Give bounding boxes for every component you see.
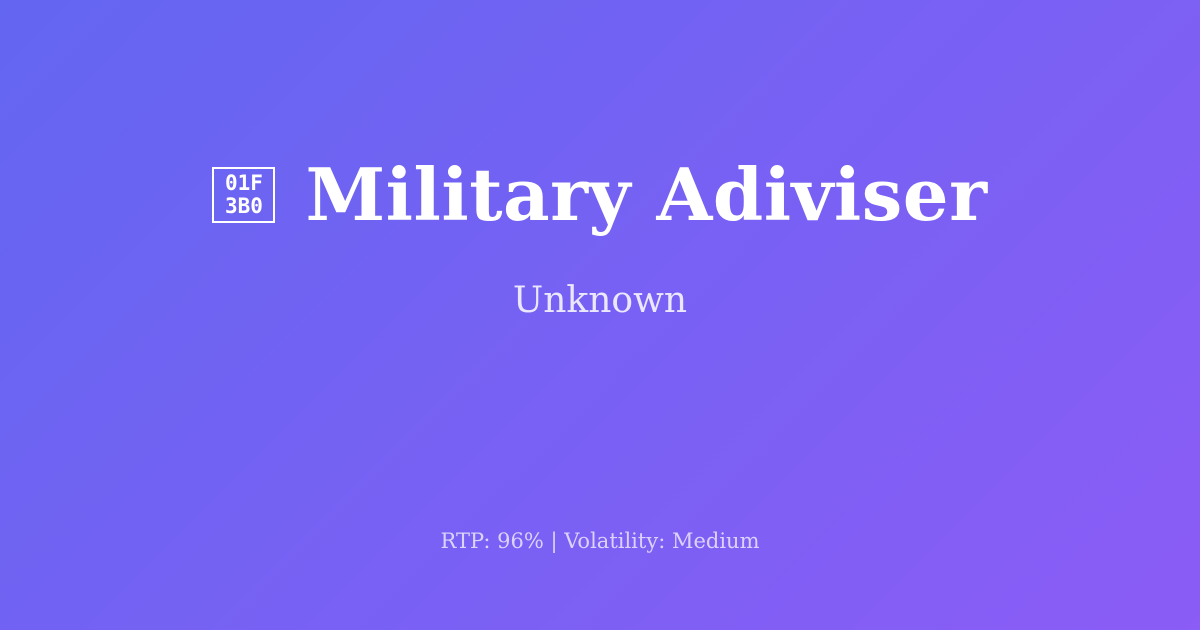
page-title: Military Adiviser — [305, 155, 987, 235]
tofu-codepoint-bottom: 3B0 — [225, 195, 263, 218]
tofu-codepoint-top: 01F — [225, 172, 263, 195]
title-row: 01F 3B0 Military Adiviser — [212, 155, 987, 235]
card-footer: RTP: 96% | Volatility: Medium — [0, 528, 1200, 555]
game-meta-line: RTP: 96% | Volatility: Medium — [441, 528, 760, 555]
og-share-card: 01F 3B0 Military Adiviser Unknown RTP: 9… — [0, 0, 1200, 630]
page-subtitle: Unknown — [513, 279, 687, 323]
slot-machine-emoji-tofu-icon: 01F 3B0 — [212, 167, 275, 223]
card-center-block: 01F 3B0 Military Adiviser Unknown — [0, 0, 1200, 478]
